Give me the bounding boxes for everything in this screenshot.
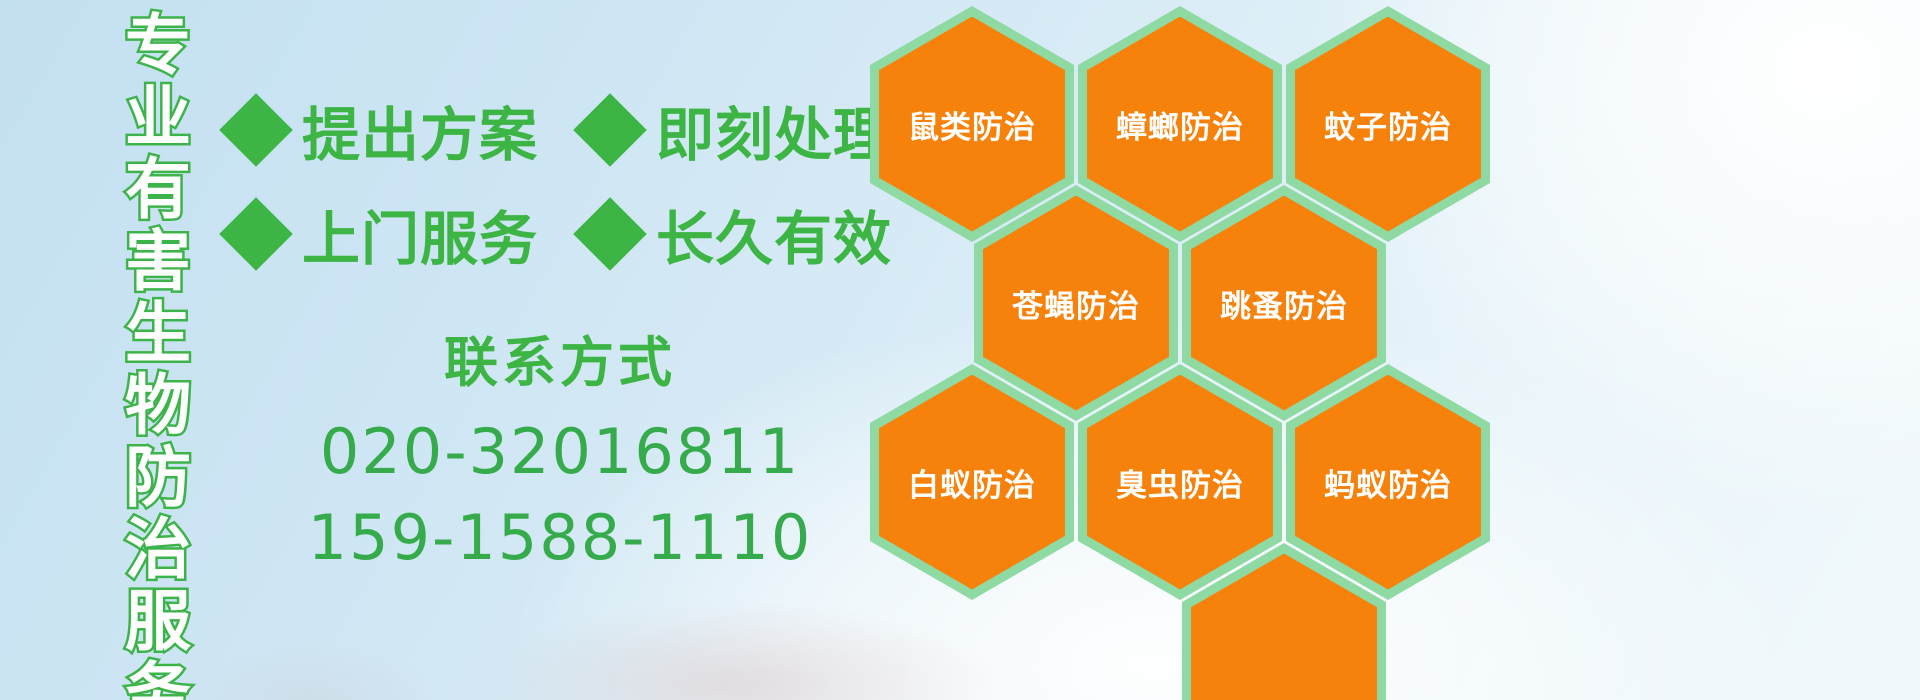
service-label-bedbug: 臭虫防治 [1116,460,1244,505]
feature-label-immediate-handling: 即刻处理 [656,88,892,172]
diamond-icon [573,93,647,167]
hex-inner: 跳蚤防治 [1191,196,1377,411]
vertical-title-char-1: 业 [125,82,191,154]
promo-banner: 专 业 有 害 生 物 防 治 服 务 提出方案 即刻处理 上门服务 长久有效 … [0,0,1920,700]
vertical-title-char-0: 专 [125,10,191,82]
hex-inner: 苍蝇防治 [983,196,1169,411]
feature-row-2: 上门服务 长久有效 [230,182,870,286]
vertical-title-char-7: 治 [125,514,191,586]
feature-label-onsite-service: 上门服务 [302,192,538,276]
vertical-title-char-4: 生 [125,298,191,370]
service-label-rodent: 鼠类防治 [908,102,1036,147]
hex-inner: 白蚁防治 [879,375,1065,590]
service-honeycomb: 鼠类防治 蟑螂防治 蚊子防治 苍蝇防治 跳蚤防治 白蚁防治 [860,0,1920,700]
diamond-icon [219,93,293,167]
service-label-cockroach: 蟑螂防治 [1116,102,1244,147]
feature-list: 提出方案 即刻处理 上门服务 长久有效 [230,78,870,286]
vertical-title-char-3: 害 [125,226,191,298]
contact-phone-mobile[interactable]: 159-1588-1110 [300,495,820,581]
diamond-icon [573,197,647,271]
service-label-flea: 跳蚤防治 [1220,281,1348,326]
hex-inner: 蟑螂防治 [1087,17,1273,232]
vertical-title-char-6: 防 [125,442,191,514]
contact-block: 联系方式 020-32016811 159-1588-1110 [300,318,820,581]
vertical-title-char-5: 物 [125,370,191,442]
vertical-title-char-9: 务 [125,658,191,700]
hex-inner: 蚂蚁防治 [1295,375,1481,590]
vertical-title-char-8: 服 [125,586,191,658]
vertical-title-char-2: 有 [125,154,191,226]
contact-title: 联系方式 [300,318,820,397]
feature-label-long-lasting: 长久有效 [656,192,892,276]
background-smudge-secondary [180,640,440,700]
service-label-mosquito: 蚊子防治 [1324,102,1452,147]
service-label-termite: 白蚁防治 [908,460,1036,505]
service-label-fly: 苍蝇防治 [1012,281,1140,326]
contact-phone-landline[interactable]: 020-32016811 [300,409,820,495]
service-label-ant: 蚂蚁防治 [1324,460,1452,505]
diamond-icon [219,197,293,271]
vertical-title: 专 业 有 害 生 物 防 治 服 务 [112,10,204,690]
hex-inner: 鼠类防治 [879,17,1065,232]
hex-inner: 蚊子防治 [1295,17,1481,232]
feature-label-propose-plan: 提出方案 [302,88,538,172]
feature-row-1: 提出方案 即刻处理 [230,78,870,182]
hex-inner: 臭虫防治 [1087,375,1273,590]
